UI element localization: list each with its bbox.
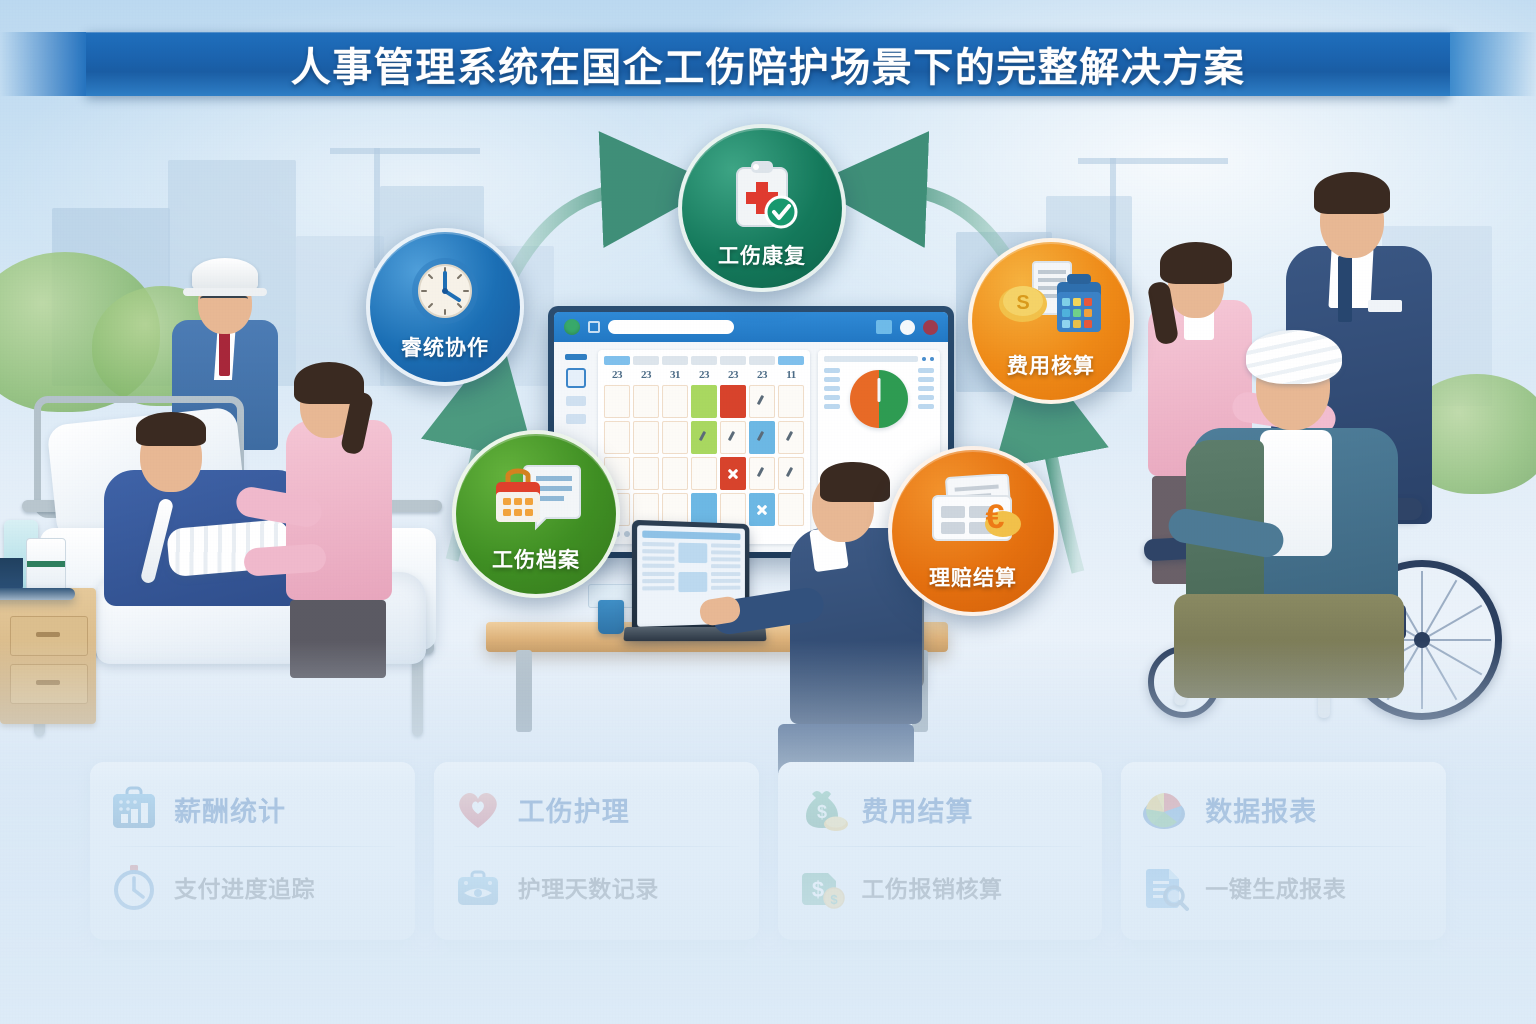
texture-grain [0,0,1536,1024]
infographic-canvas: 23 23 31 23 23 23 11 [0,0,1536,1024]
